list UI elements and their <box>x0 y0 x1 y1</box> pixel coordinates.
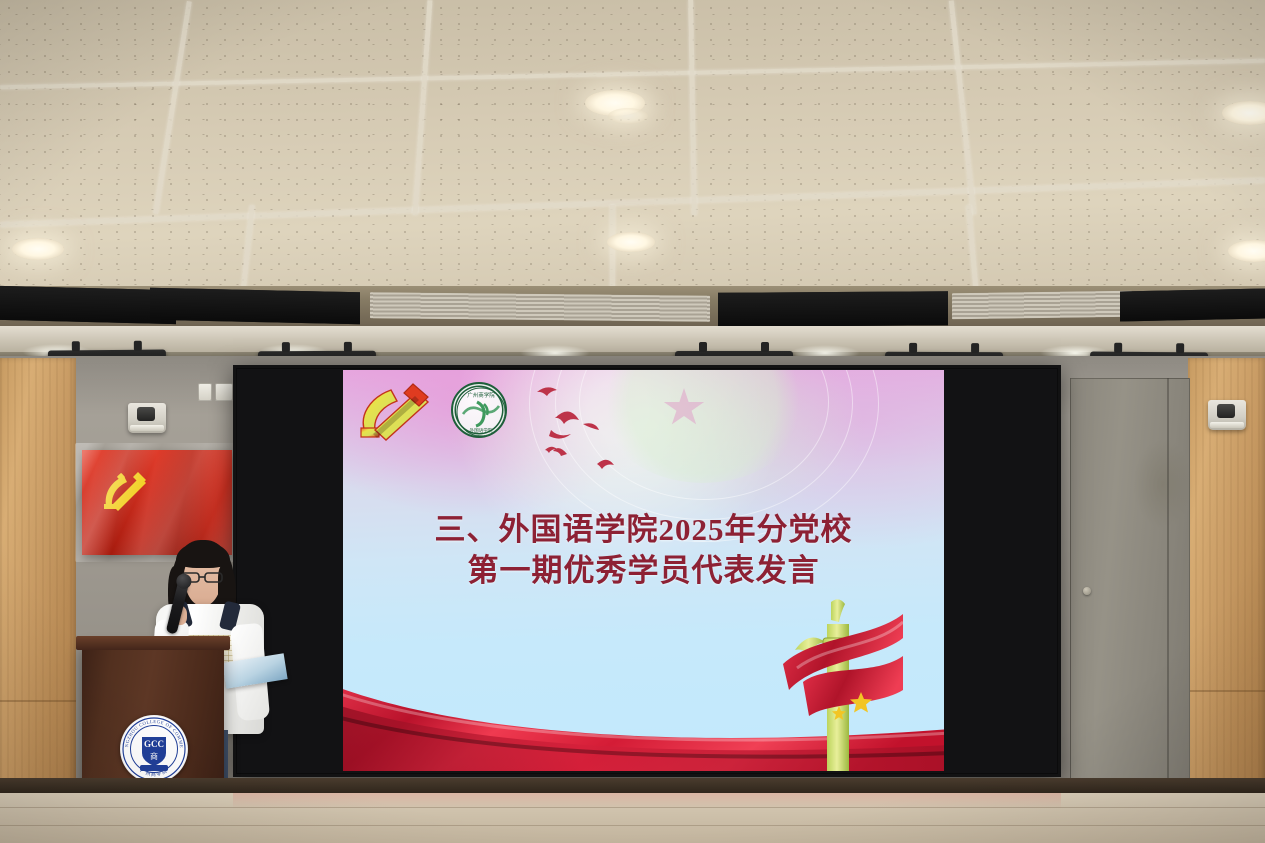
podium-emblem: GUANGZHOU COLLEGE OF COMMERCE 广州商学院 GCC … <box>120 715 188 783</box>
wall-speaker-left <box>128 403 166 433</box>
door-handle[interactable] <box>1083 587 1091 595</box>
stage-light-bracket <box>1114 343 1122 353</box>
hammer-and-sickle-icon <box>100 466 152 514</box>
slide-title-line-1: 三、外国语学院2025年分党校 <box>343 510 944 550</box>
auditorium-scene: 广州商学院 外国语学院 SCHOOL OF FOREIGN LANGUAGES <box>0 0 1265 843</box>
wood-wall-panel-left <box>0 358 76 794</box>
wall-baseboard <box>0 778 1265 794</box>
cpc-hammer-sickle-emblem <box>355 380 437 442</box>
wood-panel-seam <box>0 700 76 702</box>
ceiling-downlight <box>608 108 648 124</box>
speaker-fringe <box>176 542 230 568</box>
presentation-slide: 广州商学院 外国语学院 SCHOOL OF FOREIGN LANGUAGES <box>343 370 944 771</box>
huabiao-column <box>783 598 903 771</box>
ceiling-downlight <box>12 238 64 260</box>
stage-light-bracket <box>72 341 80 351</box>
svg-text:商: 商 <box>150 751 158 761</box>
svg-text:外国语学院: 外国语学院 <box>470 427 493 434</box>
ceiling-seam <box>610 205 615 295</box>
stage-light-bracket <box>699 342 707 352</box>
speaker-cone <box>137 407 155 421</box>
svg-text:广州商学院: 广州商学院 <box>467 391 495 399</box>
podium-top-surface <box>76 636 230 650</box>
door-frame-seam <box>1167 378 1169 790</box>
floor-screen-reflection <box>233 793 1061 809</box>
floor-seam <box>0 825 1265 826</box>
ceiling-downlight <box>607 232 655 252</box>
stage-light-bracket <box>909 343 917 353</box>
door-smudge <box>1133 439 1193 529</box>
wall-outlet-panel[interactable] <box>215 383 233 401</box>
wood-panel-seam <box>1188 690 1265 692</box>
air-vent-grille <box>370 292 710 322</box>
stage-light-bracket <box>761 342 769 352</box>
school-emblem: 广州商学院 外国语学院 SCHOOL OF FOREIGN LANGUAGES <box>451 382 507 438</box>
stage-light-bracket <box>971 343 979 353</box>
svg-text:GCC: GCC <box>144 739 164 749</box>
stage-light-bracket <box>282 342 290 352</box>
svg-text:SCHOOL OF FOREIGN LANGUAGES: SCHOOL OF FOREIGN LANGUAGES <box>458 435 504 438</box>
ceiling-perforation-pattern-overlay <box>0 0 1265 300</box>
wall-speaker-right <box>1208 400 1246 430</box>
speaker-cone <box>1217 404 1235 418</box>
stage-light-bracket <box>134 341 142 351</box>
soffit-dark-band <box>718 291 948 327</box>
stage-light-bracket <box>344 342 352 352</box>
wall-switch-panel[interactable] <box>198 383 212 401</box>
slide-title-line-2: 第一期优秀学员代表发言 <box>343 551 944 591</box>
stage-light-bracket <box>1176 343 1184 353</box>
side-door[interactable] <box>1070 378 1190 790</box>
air-vent-grille <box>952 291 1132 320</box>
soffit-dark-band <box>150 288 360 324</box>
dove-flock-icon <box>521 378 641 488</box>
soffit-dark-band <box>1120 288 1265 321</box>
speaker-base <box>130 425 164 431</box>
led-display-wall[interactable]: 广州商学院 外国语学院 SCHOOL OF FOREIGN LANGUAGES <box>233 365 1061 777</box>
ceiling <box>0 0 1265 300</box>
speaker-base <box>1210 422 1244 428</box>
